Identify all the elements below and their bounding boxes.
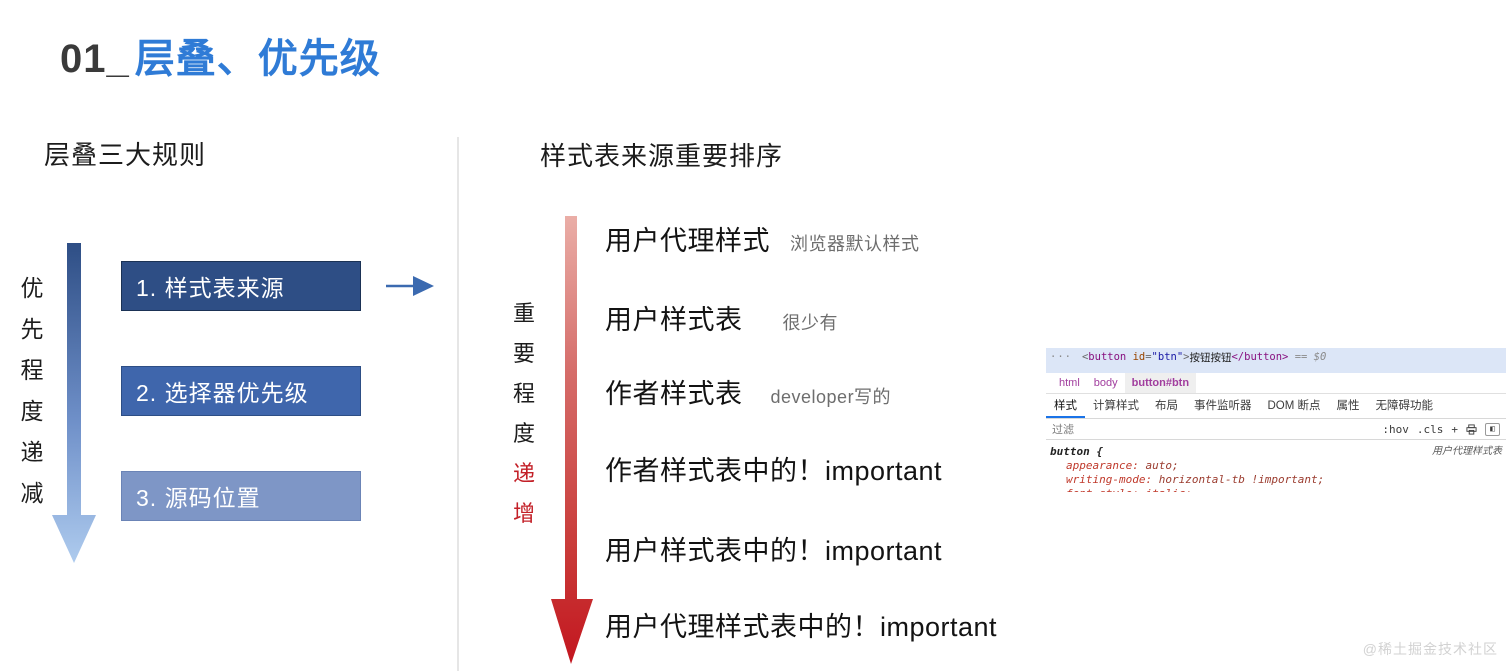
source-row: 作者样式表中的！important [605, 449, 942, 488]
vertical-char: 增 [508, 494, 540, 534]
tab-computed[interactable]: 计算样式 [1085, 394, 1147, 418]
right-panel: 样式表来源重要排序 重 要 程 度 递 增 用户代理样式 浏览器默认样式 用户样… [457, 0, 1512, 671]
importance-increasing-arrow-icon [551, 216, 593, 664]
dom-tag-name: button [1088, 351, 1126, 363]
dom-attr-value: "btn" [1152, 351, 1184, 363]
dom-selected-marker: == $0 [1295, 351, 1327, 363]
source-row: 用户样式表 很少有 [605, 298, 838, 337]
priority-decreasing-arrow-icon [52, 243, 96, 563]
rule-box-selector-specificity[interactable]: 2. 选择器优先级 [121, 366, 361, 416]
watermark: @稀土掘金技术社区 [1363, 639, 1498, 659]
importance-increasing-label: 重 要 程 度 递 增 [508, 294, 540, 534]
left-panel-heading: 层叠三大规则 [44, 135, 206, 172]
rule-box-label: 1. 样式表来源 [136, 269, 285, 303]
source-label: 作者样式表 [605, 372, 743, 411]
css-rule-header: button { 用户代理样式表 [1050, 445, 1502, 459]
devtools-dom-node[interactable]: ···<button id="btn">按钮按钮</button> == $0 [1046, 348, 1506, 366]
right-panel-heading: 样式表来源重要排序 [540, 136, 783, 173]
devtools-breadcrumb: html body button#btn [1046, 373, 1506, 394]
source-row: 用户样式表中的！important [605, 529, 942, 568]
vertical-char: 优 [17, 268, 47, 309]
tab-event-listeners[interactable]: 事件监听器 [1186, 394, 1260, 418]
source-note: 很少有 [783, 309, 839, 335]
breadcrumb-item-body[interactable]: body [1087, 373, 1125, 393]
dom-ellipsis[interactable]: ··· [1050, 351, 1072, 363]
vertical-char: 程 [508, 374, 540, 414]
source-row: 用户代理样式表中的！important [605, 605, 997, 644]
filter-actions: :hov .cls + ◧ [1382, 423, 1506, 436]
css-value[interactable]: auto; [1145, 459, 1178, 472]
css-rule-origin: 用户代理样式表 [1432, 445, 1502, 459]
devtools-styles-pane: button { 用户代理样式表 appearance: auto; writi… [1046, 440, 1506, 492]
breadcrumb-item-html[interactable]: html [1052, 373, 1087, 393]
css-declaration[interactable]: appearance: auto; [1050, 459, 1502, 473]
tab-properties[interactable]: 属性 [1329, 394, 1368, 418]
filter-input[interactable]: 过滤 [1046, 421, 1382, 437]
tab-accessibility[interactable]: 无障碍功能 [1368, 394, 1442, 418]
tab-styles[interactable]: 样式 [1046, 394, 1085, 418]
devtools-filter-bar: 过滤 :hov .cls + ◧ [1046, 419, 1506, 440]
left-panel: 层叠三大规则 优 先 程 度 递 减 1. 样式表来源 2. 选择器优先级 3.… [0, 0, 457, 671]
vertical-char: 重 [508, 294, 540, 334]
source-note: 浏览器默认样式 [790, 230, 920, 256]
css-property[interactable]: appearance [1066, 459, 1132, 472]
hov-toggle[interactable]: :hov [1382, 423, 1409, 436]
source-label: 作者样式表中的！important [605, 449, 942, 488]
source-note: developer写的 [771, 383, 892, 409]
new-style-rule-icon[interactable]: + [1451, 423, 1458, 436]
css-property[interactable]: writing-mode [1066, 473, 1145, 486]
dom-text-content: 按钮按钮 [1189, 350, 1231, 365]
css-colon: : [1132, 459, 1145, 472]
devtools-tab-bar: 样式 计算样式 布局 事件监听器 DOM 断点 属性 无障碍功能 [1046, 394, 1506, 419]
css-selector[interactable]: button { [1050, 445, 1103, 459]
tab-dom-breakpoints[interactable]: DOM 断点 [1260, 394, 1329, 418]
vertical-char: 度 [508, 414, 540, 454]
vertical-char: 减 [17, 473, 47, 514]
arrow-right-icon [386, 272, 434, 300]
sidebar-toggle-icon[interactable]: ◧ [1485, 423, 1500, 436]
dom-closing-tag: </button> [1231, 351, 1288, 363]
vertical-char: 度 [17, 391, 47, 432]
vertical-char: 要 [508, 334, 540, 374]
css-colon: : [1145, 473, 1158, 486]
dom-attr-name: id [1133, 351, 1146, 363]
source-label: 用户代理样式 [605, 219, 770, 258]
priority-decreasing-label: 优 先 程 度 递 减 [17, 268, 47, 514]
cls-toggle[interactable]: .cls [1417, 423, 1444, 436]
breadcrumb-item-button[interactable]: button#btn [1125, 373, 1196, 393]
vertical-char: 递 [508, 454, 540, 494]
css-declaration[interactable]: writing-mode: horizontal-tb !important; [1050, 473, 1502, 487]
print-icon[interactable] [1466, 424, 1477, 435]
css-value[interactable]: horizontal-tb !important; [1159, 473, 1325, 486]
source-row: 用户代理样式 浏览器默认样式 [605, 219, 920, 258]
devtools-screenshot: ···<button id="btn">按钮按钮</button> == $0 … [1046, 348, 1506, 512]
devtools-dom-next-line [1046, 366, 1506, 373]
source-label: 用户代理样式表中的！important [605, 605, 997, 644]
rule-box-source-order[interactable]: 3. 源码位置 [121, 471, 361, 521]
rule-box-label: 2. 选择器优先级 [136, 374, 309, 408]
tab-layout[interactable]: 布局 [1147, 394, 1186, 418]
rule-box-stylesheet-origin[interactable]: 1. 样式表来源 [121, 261, 361, 311]
source-label: 用户样式表 [605, 298, 743, 337]
vertical-char: 程 [17, 350, 47, 391]
vertical-char: 先 [17, 309, 47, 350]
vertical-char: 递 [17, 432, 47, 473]
rule-box-label: 3. 源码位置 [136, 479, 261, 513]
source-label: 用户样式表中的！important [605, 529, 942, 568]
css-declaration-clipped: font-style: italic; [1050, 487, 1502, 492]
source-row: 作者样式表 developer写的 [605, 372, 891, 411]
